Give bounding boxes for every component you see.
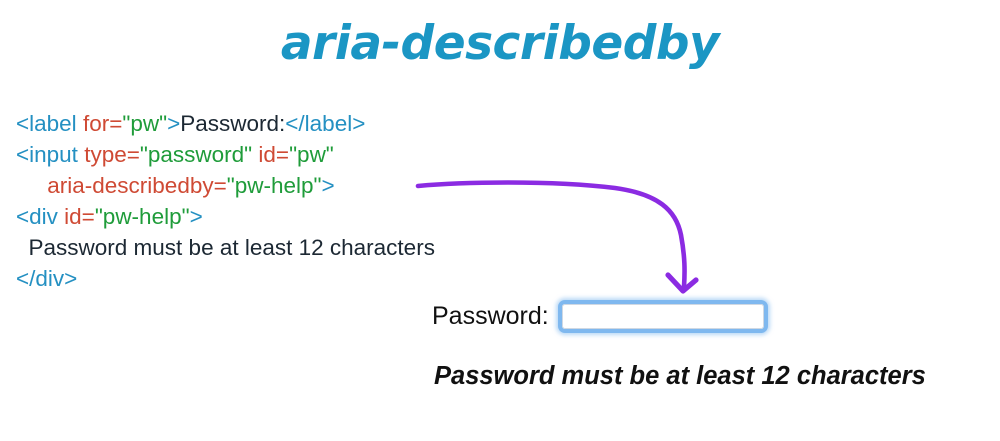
code-line: aria-describedby="pw-help"> — [16, 170, 435, 201]
code-token-txt: Password: — [180, 111, 285, 136]
page-title: aria-describedby — [0, 16, 1000, 71]
code-token-val: "pw-help" — [95, 204, 190, 229]
password-label: Password: — [432, 304, 549, 329]
code-line: <label for="pw">Password:</label> — [16, 108, 435, 139]
code-token-tag: <input — [16, 142, 84, 167]
code-snippet: <label for="pw">Password:</label><input … — [16, 108, 435, 294]
code-token-tag: </label> — [285, 111, 365, 136]
code-token-tag: > — [190, 204, 203, 229]
code-token-tag: <label — [16, 111, 83, 136]
code-token-val: "pw-help" — [227, 173, 322, 198]
code-token-attr: id= — [64, 204, 95, 229]
code-token-txt — [16, 173, 47, 198]
password-input[interactable] — [562, 304, 764, 329]
code-token-tag: > — [322, 173, 335, 198]
code-token-attr: type= — [84, 142, 140, 167]
curved-arrow-icon — [400, 165, 730, 310]
code-token-txt: Password must be at least 12 characters — [16, 235, 435, 260]
password-help-text: Password must be at least 12 characters — [434, 362, 926, 391]
code-line: Password must be at least 12 characters — [16, 232, 435, 263]
code-token-attr: aria-describedby= — [47, 173, 226, 198]
code-line: </div> — [16, 263, 435, 294]
code-token-attr: id= — [258, 142, 289, 167]
code-token-tag: </div> — [16, 266, 77, 291]
slide-canvas: aria-describedby <label for="pw">Passwor… — [0, 0, 1000, 441]
code-token-tag: > — [167, 111, 180, 136]
code-line: <div id="pw-help"> — [16, 201, 435, 232]
code-token-val: "password" — [140, 142, 252, 167]
password-input-focus-ring — [558, 300, 768, 333]
code-token-tag: <div — [16, 204, 64, 229]
code-token-val: "pw" — [122, 111, 167, 136]
code-line: <input type="password" id="pw" — [16, 139, 435, 170]
password-field-row: Password: — [432, 300, 768, 333]
code-token-val: "pw" — [289, 142, 334, 167]
code-token-attr: for= — [83, 111, 122, 136]
